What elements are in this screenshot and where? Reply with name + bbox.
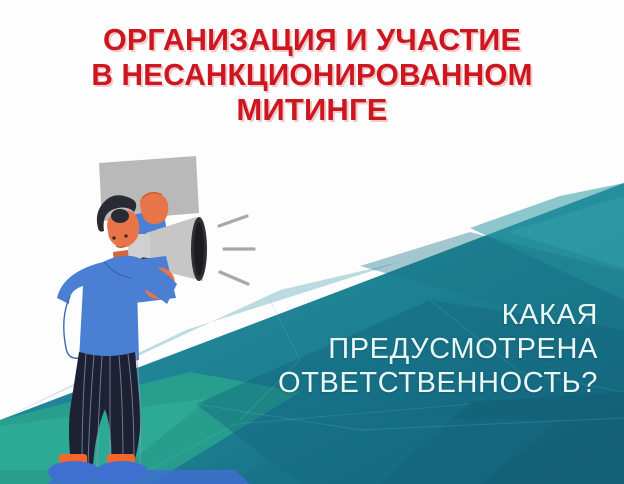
poster-canvas: ОРГАНИЗАЦИЯ И УЧАСТИЕ В НЕСАНКЦИОНИРОВАН… [0, 0, 624, 484]
question-line-3: ОТВЕТСТВЕННОСТЬ? [278, 366, 598, 400]
headline-line-3: МИТИНГЕ [0, 92, 624, 128]
question-block: КАКАЯ ПРЕДУСМОТРЕНА ОТВЕТСТВЕННОСТЬ? [278, 298, 598, 400]
question-line-2: ПРЕДУСМОТРЕНА [278, 332, 598, 366]
floor-blue-patch [48, 470, 250, 484]
headline-block: ОРГАНИЗАЦИЯ И УЧАСТИЕ В НЕСАНКЦИОНИРОВАН… [0, 22, 624, 128]
question-line-1: КАКАЯ [278, 298, 598, 332]
headline-line-1: ОРГАНИЗАЦИЯ И УЧАСТИЕ [6, 22, 618, 57]
headline-line-2: В НЕСАНКЦИОНИРОВАННОМ [12, 57, 611, 92]
